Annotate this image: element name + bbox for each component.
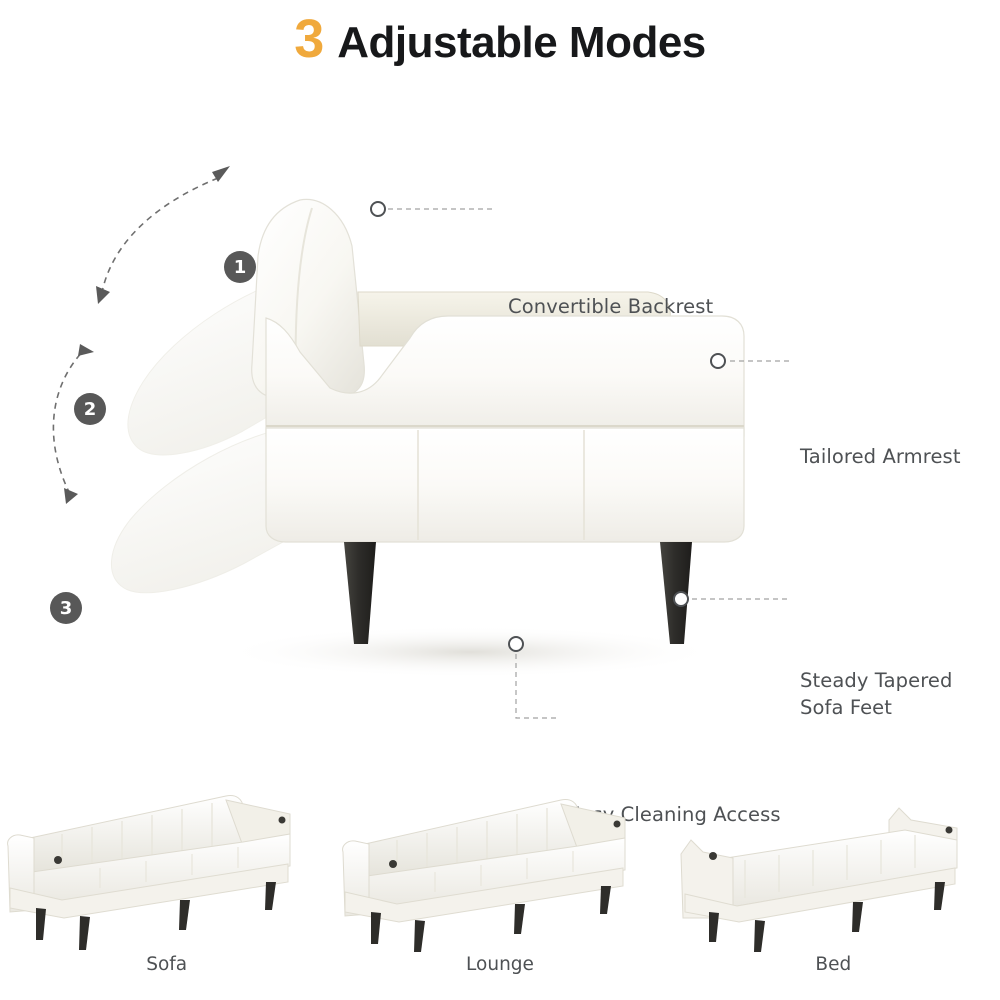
- thumb-lounge-cupholder: [389, 860, 397, 868]
- hero-product-diagram: 1 2 3 Convertible Backrest Tailored Armr…: [0, 96, 1000, 768]
- marker-feet: [674, 592, 688, 606]
- arrowhead-down-to-3: [64, 488, 78, 504]
- thumb-sofa-cupholder-far: [279, 817, 286, 824]
- mode-badge-3[interactable]: 3: [50, 592, 82, 624]
- mode-label-lounge: Lounge: [466, 954, 534, 975]
- marker-cleaning: [509, 637, 523, 651]
- title-text: Adjustable Modes: [337, 21, 706, 65]
- mode-sofa-illustration: [0, 778, 333, 956]
- thumb-bed-cupholder-far: [945, 827, 952, 834]
- mode-lounge-illustration: [333, 778, 666, 956]
- mode-badge-3-number: 3: [60, 598, 73, 619]
- page-title: 3 Adjustable Modes: [0, 12, 1000, 66]
- callout-label-feet: Steady Tapered Sofa Feet: [800, 668, 952, 722]
- mode-badge-2[interactable]: 2: [74, 393, 106, 425]
- thumb-bed-cupholder: [709, 852, 717, 860]
- thumb-lounge-cupholder-far: [614, 821, 621, 828]
- arrowhead-up-to-2: [78, 344, 94, 356]
- mode-badge-1[interactable]: 1: [224, 251, 256, 283]
- mode-thumbnail-bed[interactable]: Bed: [667, 778, 1000, 1000]
- mode-badge-2-number: 2: [84, 399, 97, 420]
- callout-label-armrest: Tailored Armrest: [800, 444, 961, 471]
- marker-backrest: [371, 202, 385, 216]
- mode-bed-illustration: [667, 778, 1000, 956]
- mode-thumbnail-lounge[interactable]: Lounge: [333, 778, 666, 1000]
- title-number: 3: [294, 12, 323, 66]
- mode-label-bed: Bed: [815, 954, 851, 975]
- marker-armrest: [711, 354, 725, 368]
- sofa-base: [266, 428, 744, 542]
- mode-thumbnail-row: Sofa: [0, 778, 1000, 1000]
- mode-label-sofa: Sofa: [146, 954, 187, 975]
- floor-shadow: [220, 626, 720, 678]
- mode-thumbnail-sofa[interactable]: Sofa: [0, 778, 333, 1000]
- arrow-path-1-to-2: [102, 178, 218, 292]
- mode-badge-1-number: 1: [234, 257, 247, 278]
- thumb-sofa-cupholder: [54, 856, 62, 864]
- callout-label-backrest: Convertible Backrest: [508, 294, 713, 321]
